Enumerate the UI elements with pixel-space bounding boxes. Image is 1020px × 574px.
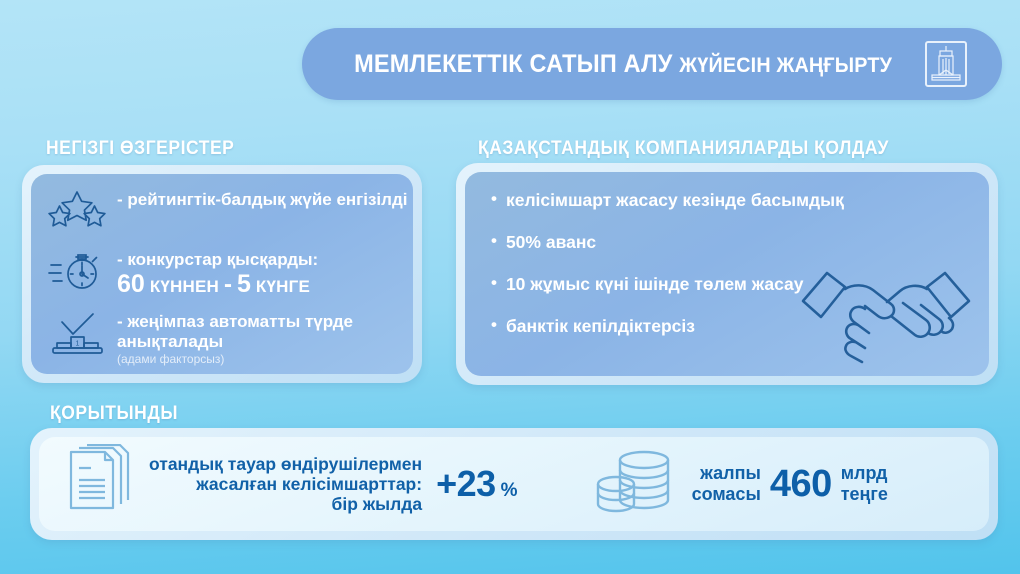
- winner-headline: - жеңімпаз автоматты түрде анықталады: [117, 312, 413, 352]
- amount-value: 460: [770, 463, 832, 506]
- contracts-growth-value: +23: [436, 463, 496, 505]
- infographic-canvas: МЕМЛЕКЕТТІК САТЫП АЛУ ЖҮЙЕСІН ЖАҢҒЫРТУ Н…: [0, 0, 1020, 574]
- page-title-tail: ЖҮЙЕСІН ЖАҢҒЫРТУ: [679, 54, 892, 77]
- support-bullet-1: • келісімшарт жасасу кезінде басымдық: [491, 190, 844, 211]
- key-change-text-duration: - конкурстар қысқарды: 60 КҮННЕН - 5 КҮН…: [117, 248, 318, 299]
- contracts-growth-unit: %: [501, 480, 518, 502]
- documents-stack-icon: [65, 444, 135, 525]
- key-change-item-winner: 1 - жеңімпаз автоматты түрде анықталады …: [47, 310, 413, 366]
- duration-from-unit: КҮННЕН: [150, 277, 219, 297]
- section-label-left: НЕГІЗГІ ӨЗГЕРІСТЕР: [46, 138, 234, 160]
- section-label-bottom: ҚОРЫТЫНДЫ: [50, 403, 178, 425]
- three-stars-icon: [47, 188, 107, 230]
- key-changes-panel: - рейтингтік-балдық жүйе енгізілді: [31, 174, 413, 374]
- amount-unit: млрд теңге: [841, 463, 888, 504]
- amount-label-line-2: сомасы: [692, 484, 761, 505]
- summary-card: отандық тауар өндірушілермен жасалған ке…: [30, 428, 998, 540]
- amount-unit-line-2: теңге: [841, 484, 888, 505]
- contracts-description: отандық тауар өндірушілермен жасалған ке…: [149, 454, 422, 515]
- support-companies-panel: • келісімшарт жасасу кезінде басымдық • …: [465, 172, 989, 376]
- contracts-growth-stat: +23 %: [436, 463, 517, 505]
- support-bullet-2-text: 50% аванс: [506, 232, 596, 253]
- bullet-glyph: •: [491, 316, 497, 335]
- support-bullet-3-text: 10 жұмыс күні ішінде төлем жасау: [506, 274, 804, 295]
- key-change-text-rating: - рейтингтік-балдық жүйе енгізілді: [117, 188, 407, 210]
- summary-panel: отандық тауар өндірушілермен жасалған ке…: [39, 437, 989, 531]
- duration-from-value: 60: [117, 272, 145, 297]
- support-bullet-2: • 50% аванс: [491, 232, 844, 253]
- support-bullet-1-text: келісімшарт жасасу кезінде басымдық: [506, 190, 844, 211]
- bullet-glyph: •: [491, 190, 497, 209]
- key-change-item-rating: - рейтингтік-балдық жүйе енгізілді: [47, 188, 407, 230]
- amount-label-line-1: жалпы: [692, 463, 761, 484]
- svg-text:1: 1: [76, 341, 80, 348]
- support-bullet-list: • келісімшарт жасасу кезінде басымдық • …: [491, 190, 844, 358]
- duration-headline: - конкурстар қысқарды:: [117, 250, 318, 270]
- support-bullet-4: • банктік кепілдіктерсіз: [491, 316, 844, 337]
- support-bullet-3: • 10 жұмыс күні ішінде төлем жасау: [491, 274, 844, 295]
- contracts-line-3: бір жылда: [149, 494, 422, 514]
- header-bar: МЕМЛЕКЕТТІК САТЫП АЛУ ЖҮЙЕСІН ЖАҢҒЫРТУ: [302, 28, 1002, 100]
- key-change-text-winner: - жеңімпаз автоматты түрде анықталады (а…: [117, 310, 413, 366]
- page-title-lead: МЕМЛЕКЕТТІК САТЫП АЛУ: [354, 50, 672, 78]
- page-title: МЕМЛЕКЕТТІК САТЫП АЛУ ЖҮЙЕСІН ЖАҢҒЫРТУ: [354, 50, 892, 79]
- section-label-right: ҚАЗАҚСТАНДЫҚ КОМПАНИЯЛАРДЫ ҚОЛДАУ: [478, 138, 889, 160]
- podium-check-icon: 1: [47, 310, 107, 358]
- support-companies-card: • келісімшарт жасасу кезінде басымдық • …: [456, 163, 998, 385]
- support-bullet-4-text: банктік кепілдіктерсіз: [506, 316, 695, 337]
- duration-to-unit: КҮНГЕ: [256, 277, 310, 297]
- contracts-line-1: отандық тауар өндірушілермен: [149, 454, 422, 474]
- winner-note: (адами факторсыз): [117, 353, 413, 366]
- duration-values: 60 КҮННЕН - 5 КҮНГЕ: [117, 271, 318, 299]
- amount-label: жалпы сомасы: [692, 463, 761, 504]
- duration-separator: -: [224, 271, 232, 299]
- contracts-line-2: жасалған келісімшарттар:: [149, 474, 422, 494]
- bullet-glyph: •: [491, 232, 497, 251]
- government-building-icon: [925, 41, 967, 87]
- stopwatch-icon: [47, 248, 107, 294]
- bullet-glyph: •: [491, 274, 497, 293]
- key-change-item-duration: - конкурстар қысқарды: 60 КҮННЕН - 5 КҮН…: [47, 248, 318, 299]
- amount-readout: жалпы сомасы 460 млрд теңге: [692, 463, 888, 506]
- coins-stack-icon: [594, 446, 676, 523]
- key-changes-card: - рейтингтік-балдық жүйе енгізілді: [22, 165, 422, 383]
- summary-stat-amount: жалпы сомасы 460 млрд теңге: [594, 446, 888, 523]
- duration-to-value: 5: [237, 272, 251, 297]
- amount-unit-line-1: млрд: [841, 463, 888, 484]
- summary-stat-contracts: отандық тауар өндірушілермен жасалған ке…: [65, 444, 518, 525]
